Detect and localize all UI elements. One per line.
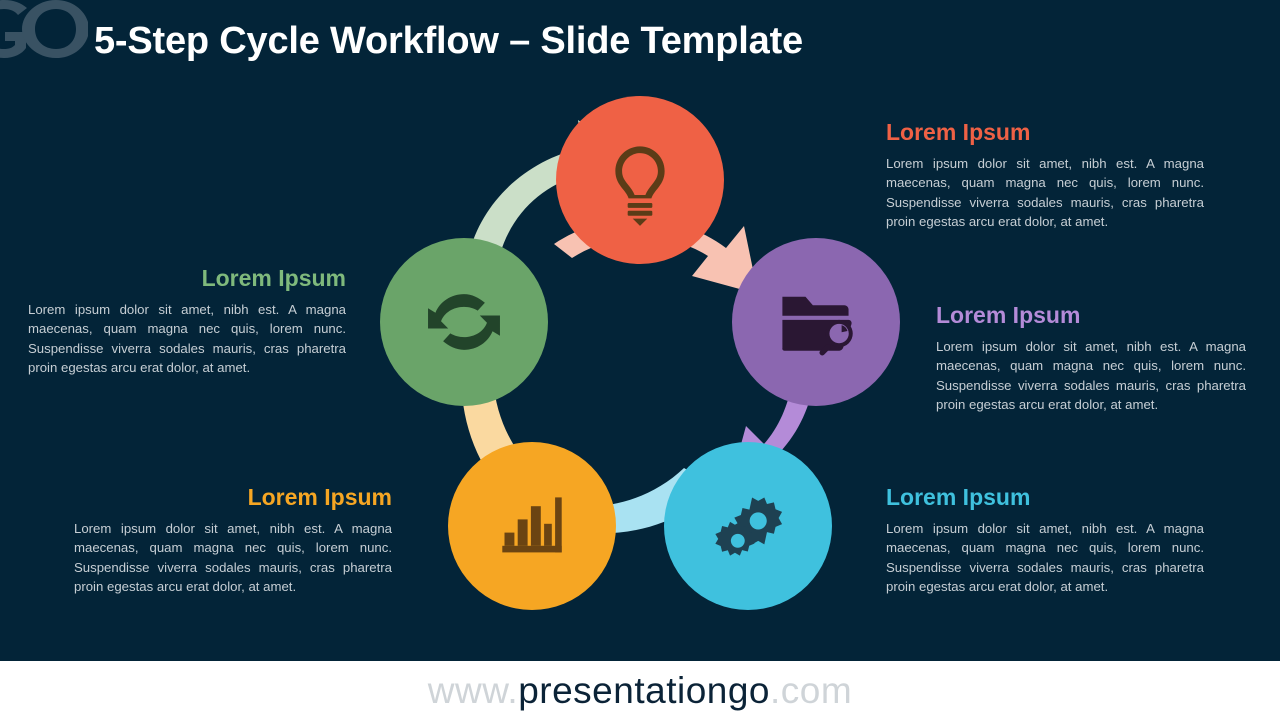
step-text-block-3: Lorem Ipsum Lorem ipsum dolor sit amet, … <box>886 485 1204 596</box>
step-circle-2[interactable] <box>732 238 900 406</box>
slide-canvas: 5-Step Cycle Workflow – Slide Template <box>0 0 1280 720</box>
website-url[interactable]: www.presentationgo.com <box>428 670 852 712</box>
step-heading-2: Lorem Ipsum <box>936 303 1246 328</box>
step-text-block-4: Lorem Ipsum Lorem ipsum dolor sit amet, … <box>74 485 392 596</box>
step-heading-1: Lorem Ipsum <box>886 120 1204 145</box>
page-title: 5-Step Cycle Workflow – Slide Template <box>94 20 803 63</box>
presentationgo-watermark-logo <box>0 0 88 72</box>
url-prefix: www. <box>428 670 518 711</box>
footer-bar: www.presentationgo.com <box>0 661 1280 720</box>
url-brand: presentationgo <box>518 670 770 711</box>
step-body-4: Lorem ipsum dolor sit amet, nibh est. A … <box>74 519 392 596</box>
folder-search-icon <box>782 297 852 357</box>
step-circle-3[interactable] <box>664 442 832 610</box>
step-heading-4: Lorem Ipsum <box>74 485 392 510</box>
step-circle-1[interactable] <box>556 96 724 264</box>
step-text-block-5: Lorem Ipsum Lorem ipsum dolor sit amet, … <box>28 266 346 377</box>
step-circle-4[interactable] <box>448 442 616 610</box>
step-heading-3: Lorem Ipsum <box>886 485 1204 510</box>
step-body-3: Lorem ipsum dolor sit amet, nibh est. A … <box>886 519 1204 596</box>
step-heading-5: Lorem Ipsum <box>28 266 346 291</box>
step-body-5: Lorem ipsum dolor sit amet, nibh est. A … <box>28 300 346 377</box>
step-text-block-2: Lorem Ipsum Lorem ipsum dolor sit amet, … <box>936 303 1246 414</box>
step-body-1: Lorem ipsum dolor sit amet, nibh est. A … <box>886 154 1204 231</box>
step-text-block-1: Lorem Ipsum Lorem ipsum dolor sit amet, … <box>886 120 1204 231</box>
url-suffix: .com <box>770 670 852 711</box>
step-circle-5[interactable] <box>380 238 548 406</box>
cycle-diagram <box>368 96 912 640</box>
step-body-2: Lorem ipsum dolor sit amet, nibh est. A … <box>936 337 1246 414</box>
